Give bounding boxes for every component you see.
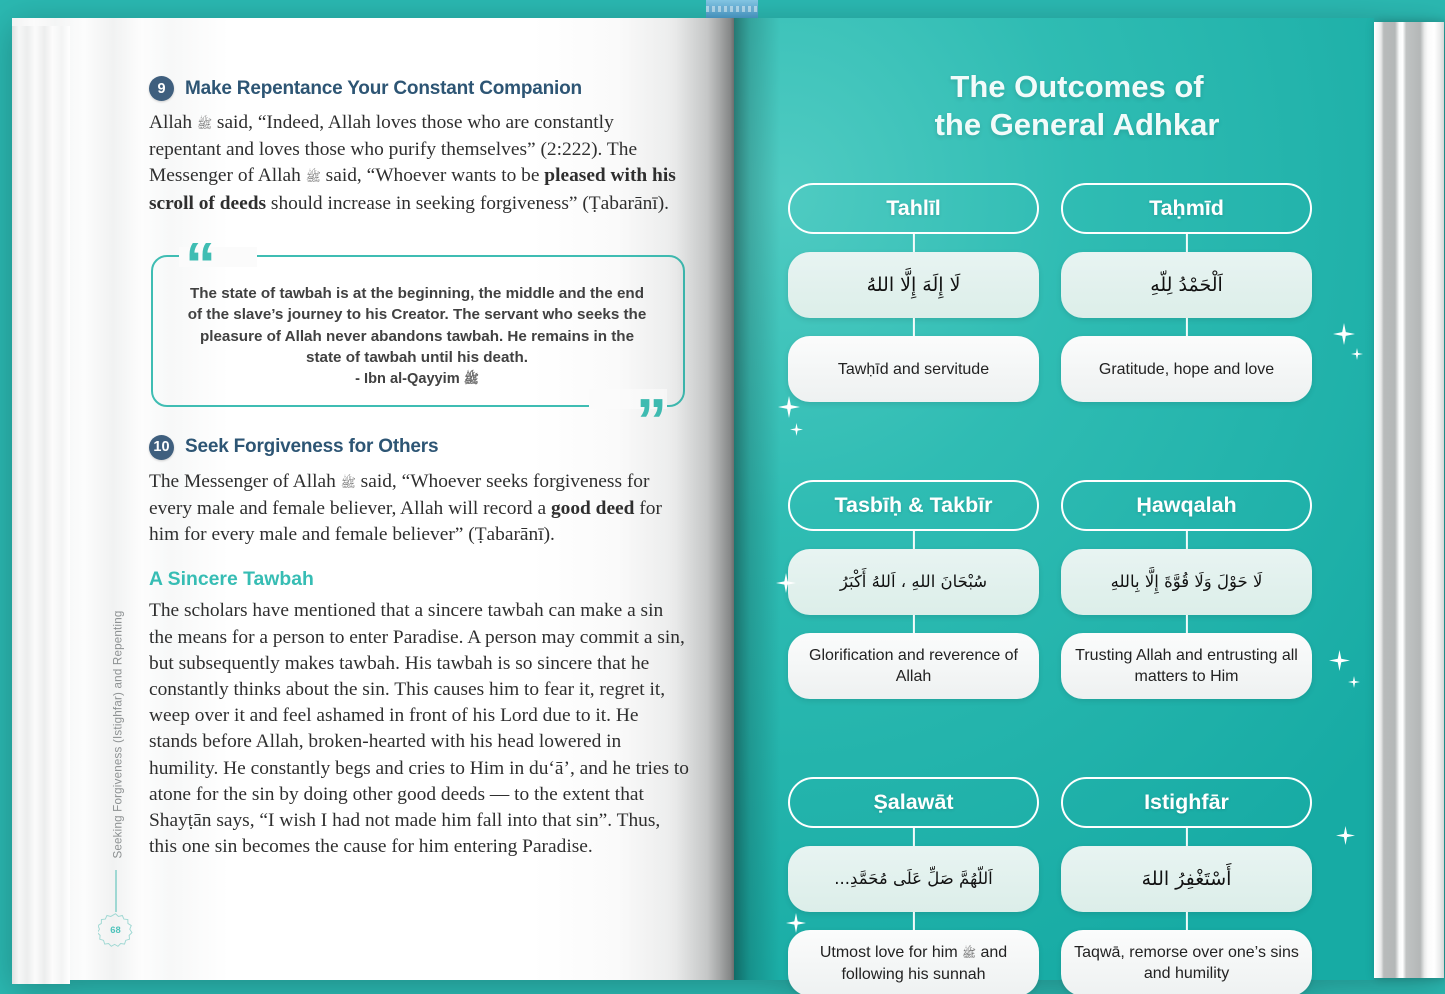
card-arabic-text: لَا حَوْلَ وَلَا قُوَّةَ إِلَّا بِاللهِ	[1101, 570, 1273, 595]
card-connector	[1185, 615, 1187, 633]
adhkar-card-hawqalah: Ḥawqalah لَا حَوْلَ وَلَا قُوَّةَ إِلَّا…	[1061, 480, 1312, 699]
salawat-glyph-icon: ﷺ	[962, 946, 976, 960]
card-connector	[1185, 828, 1187, 846]
card-title: Tahlīl	[788, 183, 1039, 234]
section-heading-10: 10 Seek Forgiveness for Others	[149, 435, 689, 460]
para10-bold: good deed	[551, 498, 635, 519]
card-title: Tasbīḥ & Takbīr	[788, 480, 1039, 531]
section-number-badge-9: 9	[149, 76, 174, 101]
card-connector	[912, 615, 914, 633]
para9-pre: Allah	[149, 112, 197, 133]
card-description: Utmost love for him ﷺ and following his …	[788, 930, 1039, 994]
card-connector	[912, 234, 914, 252]
card-connector	[1185, 912, 1187, 930]
para10-a: The Messenger of Allah	[149, 471, 341, 492]
card-arabic-text: لَا إِلَهَ إِلَّا اللهُ	[857, 271, 971, 300]
section-10-paragraph: The Messenger of Allah ﷺ said, “Whoever …	[149, 469, 689, 549]
section-title-9: Make Repentance Your Constant Companion	[185, 78, 582, 100]
card-description-part-a: Utmost love for him	[820, 944, 962, 961]
salawat-glyph-icon: ﷺ	[341, 475, 356, 490]
section-number-badge-10: 10	[149, 435, 174, 460]
adhkar-card-tasbih-takbir: Tasbīḥ & Takbīr سُبْحَانَ اللهِ ، اَللهُ…	[788, 480, 1039, 699]
card-connector	[912, 912, 914, 930]
card-arabic-box: اَلْحَمْدُ لِلّهِ	[1061, 252, 1312, 318]
card-arabic-text: أَسْتَغْفِرُ اللهَ	[1132, 865, 1242, 894]
card-arabic-box: سُبْحَانَ اللهِ ، اَللهُ أَكْبَرُ	[788, 549, 1039, 615]
page-number-badge: 68	[98, 912, 133, 947]
book-spread: 9 Make Repentance Your Constant Companio…	[0, 0, 1445, 994]
adhkar-card-salawat: Ṣalawāt اَللّهُمَّ صَلِّ عَلَى مُحَمَّدِ…	[788, 777, 1039, 994]
section-9-paragraph: Allah ﷺ said, “Indeed, Allah loves those…	[149, 110, 689, 217]
salawat-glyph-icon: ﷺ	[306, 169, 321, 184]
close-quote-icon: ”	[636, 391, 665, 453]
adhkar-card-istighfar: Istighfār أَسْتَغْفِرُ اللهَ Taqwā, remo…	[1061, 777, 1312, 994]
card-description: Gratitude, hope and love	[1061, 336, 1312, 402]
page-title-line-2: the General Adhkar	[780, 106, 1374, 144]
card-arabic-box: لَا حَوْلَ وَلَا قُوَّةَ إِلَّا بِاللهِ	[1061, 549, 1312, 615]
card-arabic-box: اَللّهُمَّ صَلِّ عَلَى مُحَمَّدِ...	[788, 846, 1039, 912]
page-title-line-1: The Outcomes of	[780, 68, 1374, 106]
page-number: 68	[110, 924, 120, 935]
rahimahullah-glyph-icon: ﷺ	[464, 371, 479, 386]
card-title: Istighfār	[1061, 777, 1312, 828]
card-connector	[912, 318, 914, 336]
card-connector	[912, 531, 914, 549]
card-arabic-text: اَللّهُمَّ صَلِّ عَلَى مُحَمَّدِ...	[824, 867, 1002, 892]
left-page-content: 9 Make Repentance Your Constant Companio…	[149, 76, 689, 936]
running-head-rule	[115, 870, 117, 912]
adhkar-grid: Tahlīl لَا إِلَهَ إِلَّا اللهُ Tawḥīd an…	[788, 183, 1366, 994]
para9-b: said, “Whoever wants to be	[321, 165, 544, 186]
left-page: 9 Make Repentance Your Constant Companio…	[12, 18, 734, 980]
right-page: The Outcomes of the General Adhkar Tahlī…	[734, 18, 1374, 980]
quote-box: “ ” The state of tawbah is at the beginn…	[149, 241, 689, 413]
subheading-sincere-tawbah: A Sincere Tawbah	[149, 568, 689, 591]
card-arabic-box: أَسْتَغْفِرُ اللهَ	[1061, 846, 1312, 912]
card-description: Trusting Allah and entrusting all matter…	[1061, 633, 1312, 699]
card-connector	[1185, 234, 1187, 252]
card-title: Ṣalawāt	[788, 777, 1039, 828]
adhkar-card-tahmid: Taḥmīd اَلْحَمْدُ لِلّهِ Gratitude, hope…	[1061, 183, 1312, 402]
card-connector	[1185, 531, 1187, 549]
card-arabic-text: سُبْحَانَ اللهِ ، اَللهُ أَكْبَرُ	[830, 570, 997, 595]
open-book: 9 Make Repentance Your Constant Companio…	[12, 12, 1433, 982]
card-description: Taqwā, remorse over one’s sins and humil…	[1061, 930, 1312, 994]
card-title: Ḥawqalah	[1061, 480, 1312, 531]
page-title: The Outcomes of the General Adhkar	[780, 68, 1374, 144]
quote-attribution: - Ibn al-Qayyim ﷺ	[185, 371, 649, 390]
running-head-text: Seeking Forgiveness (Istighfar) and Repe…	[112, 580, 125, 890]
right-page-edge-stack	[1374, 22, 1444, 978]
card-arabic-box: لَا إِلَهَ إِلَّا اللهُ	[788, 252, 1039, 318]
card-description: Glorification and reverence of Allah	[788, 633, 1039, 699]
adhkar-card-tahlil: Tahlīl لَا إِلَهَ إِلَّا اللهُ Tawḥīd an…	[788, 183, 1039, 402]
right-page-content: The Outcomes of the General Adhkar Tahlī…	[780, 18, 1374, 980]
card-connector	[912, 828, 914, 846]
quote-attribution-name: - Ibn al-Qayyim	[355, 371, 460, 387]
section-title-10: Seek Forgiveness for Others	[185, 436, 438, 458]
quote-text: The state of tawbah is at the beginning,…	[185, 283, 649, 369]
card-connector	[1185, 318, 1187, 336]
card-title: Taḥmīd	[1061, 183, 1312, 234]
running-head-group: Seeking Forgiveness (Istighfar) and Repe…	[98, 578, 132, 978]
section-heading-9: 9 Make Repentance Your Constant Companio…	[149, 76, 689, 101]
left-page-edge-stack	[12, 26, 70, 984]
salawat-glyph-icon: ﷺ	[197, 116, 212, 131]
card-description: Tawḥīd and servitude	[788, 336, 1039, 402]
para9-c: should increase in seeking forgiveness” …	[266, 193, 669, 214]
card-arabic-text: اَلْحَمْدُ لِلّهِ	[1140, 271, 1233, 300]
closing-paragraph: The scholars have mentioned that a since…	[149, 598, 689, 860]
